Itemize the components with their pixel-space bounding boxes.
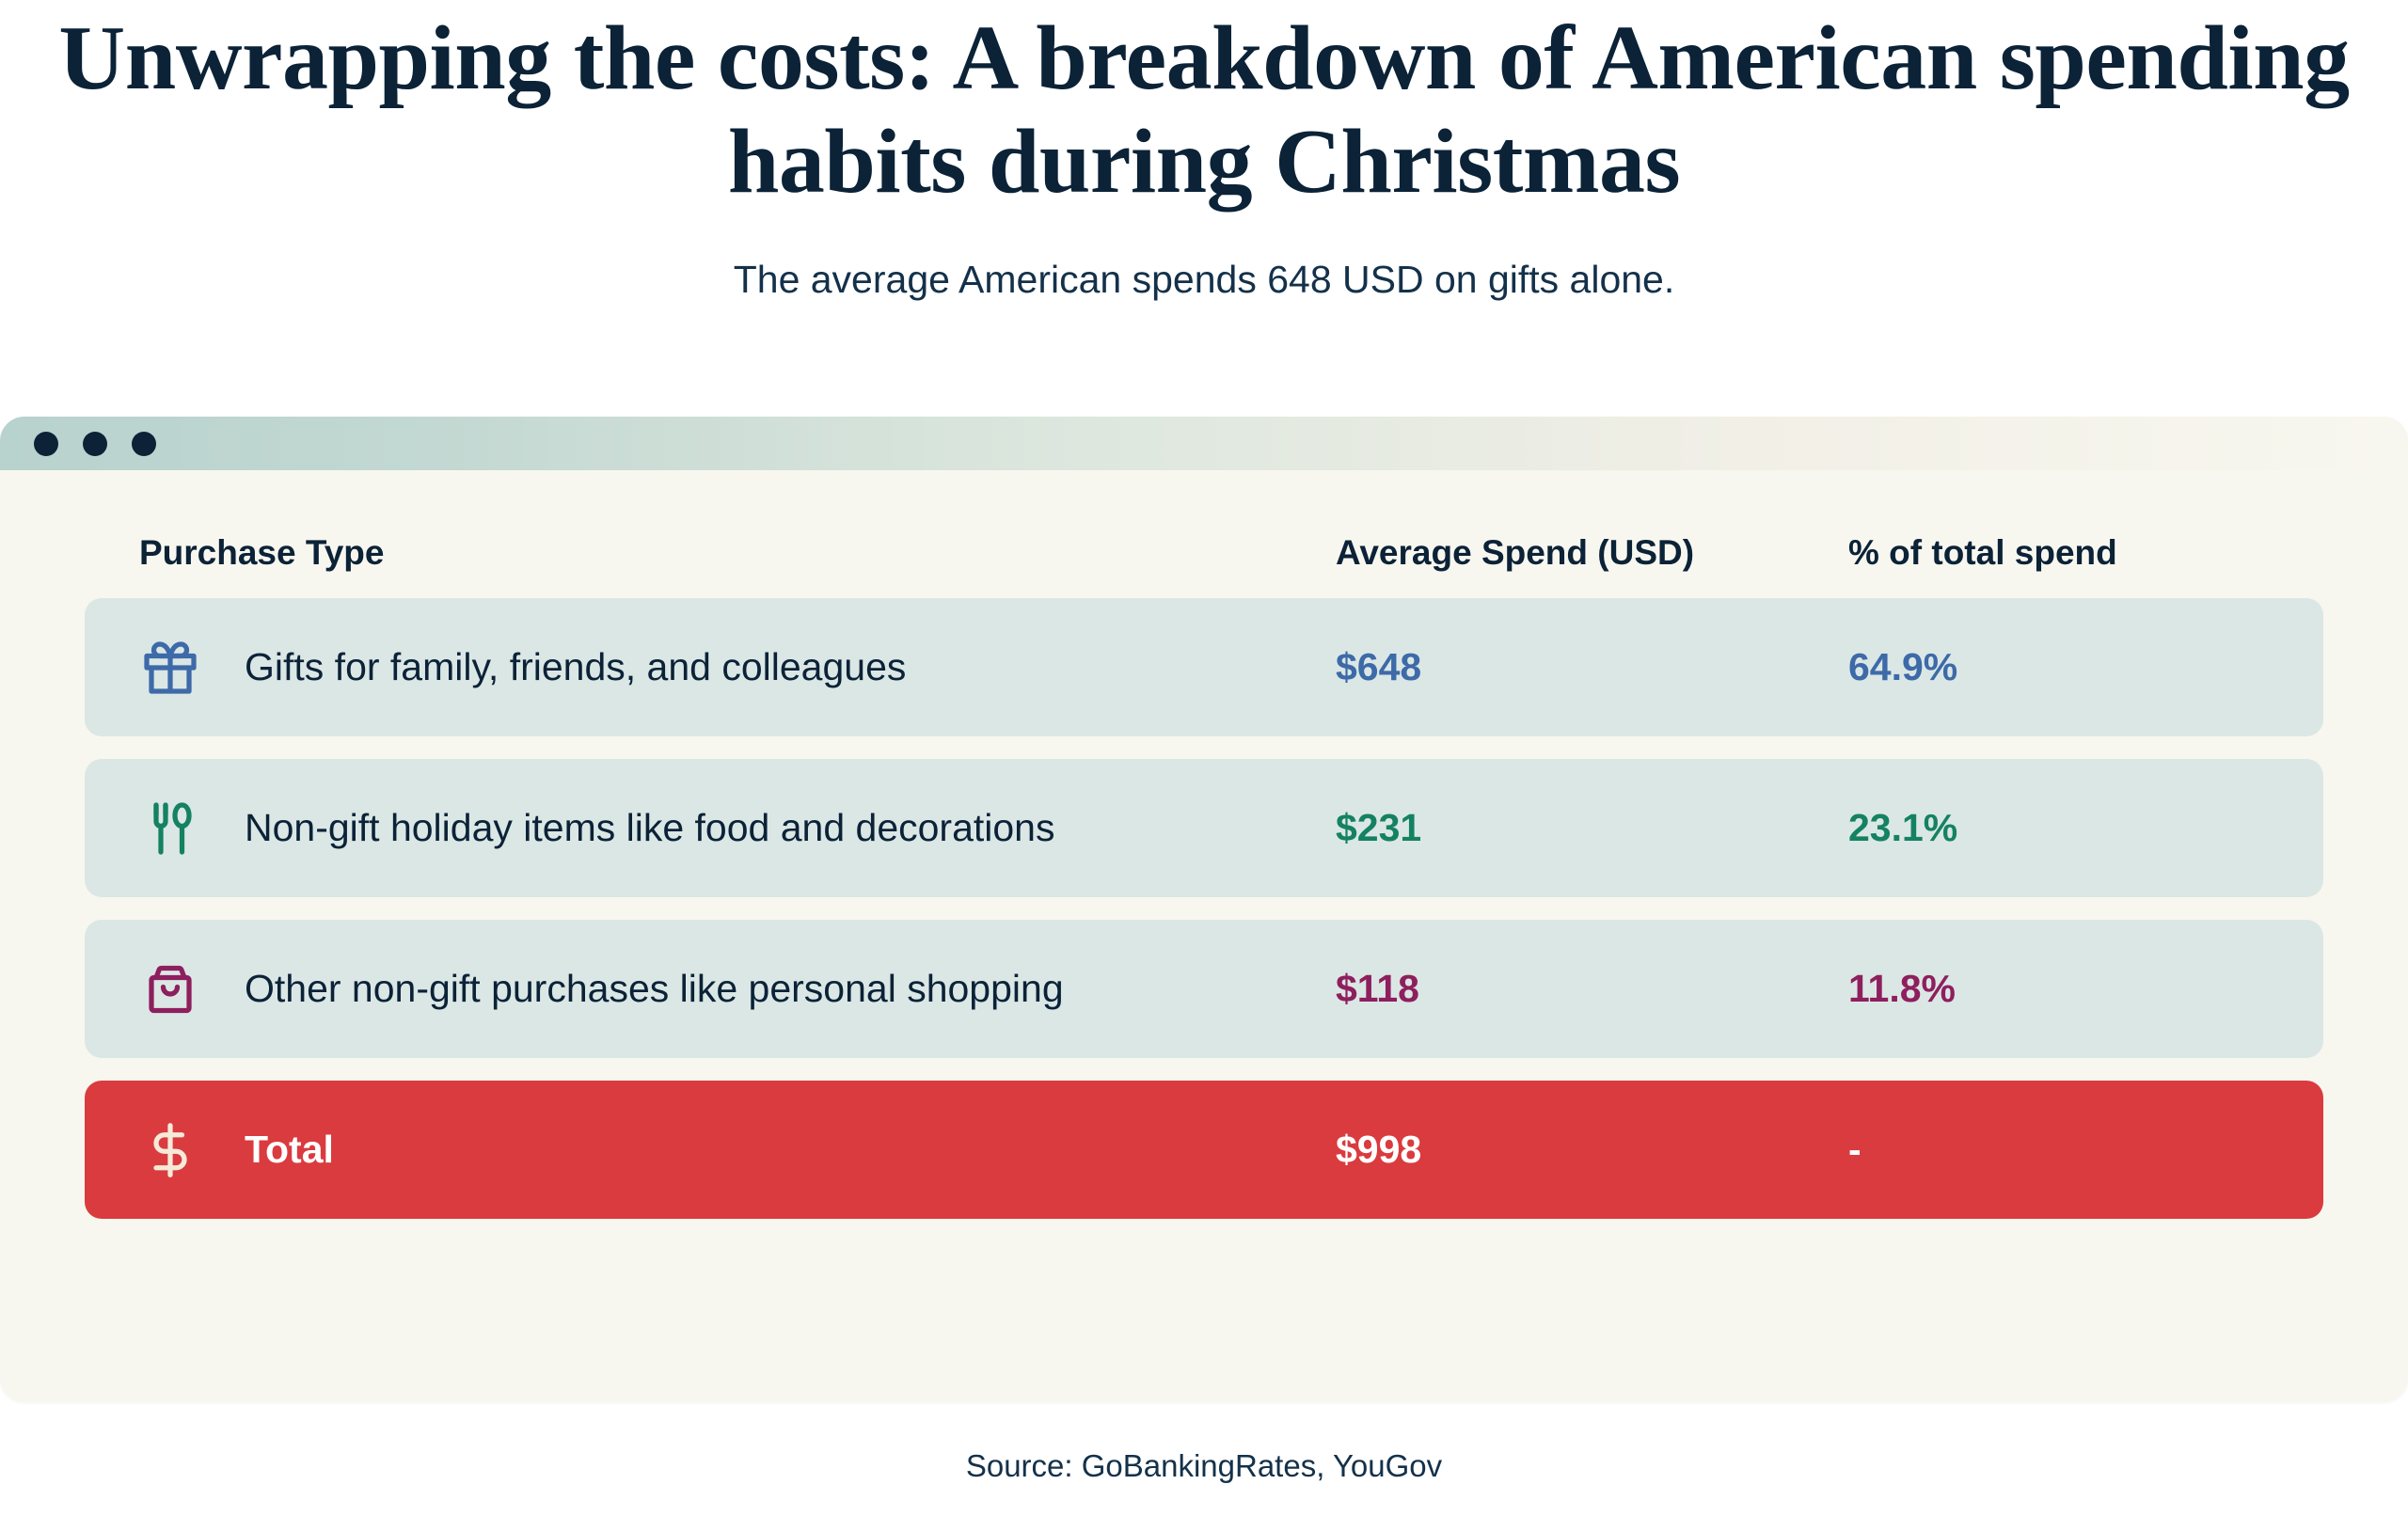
gift-icon — [139, 637, 201, 699]
cell-percent-of-total: 64.9% — [1848, 645, 1957, 689]
window-dot-3 — [132, 432, 156, 456]
column-header-average-spend: Average Spend (USD) — [1336, 533, 1848, 573]
cell-percent-of-total: - — [1848, 1128, 1861, 1172]
column-header-purchase-type: Purchase Type — [139, 533, 1336, 573]
dollar-sign-icon — [139, 1119, 201, 1181]
spending-table: Purchase Type Average Spend (USD) % of t… — [85, 508, 2323, 1219]
page-title: Unwrapping the costs: A breakdown of Ame… — [0, 8, 2408, 214]
card-window-bar — [0, 417, 2408, 470]
table-card: Purchase Type Average Spend (USD) % of t… — [0, 417, 2408, 1402]
cell-average-spend: $118 — [1336, 967, 1848, 1011]
card-body: Purchase Type Average Spend (USD) % of t… — [0, 508, 2408, 1219]
window-dot-1 — [34, 432, 58, 456]
table-row[interactable]: Other non-gift purchases like personal s… — [85, 920, 2323, 1058]
table-header-row: Purchase Type Average Spend (USD) % of t… — [85, 508, 2323, 598]
cell-average-spend: $998 — [1336, 1128, 1848, 1172]
shopping-bag-icon — [139, 958, 201, 1020]
table-total-row[interactable]: Total $998 - — [85, 1081, 2323, 1219]
cell-percent-of-total: 11.8% — [1848, 967, 1956, 1011]
column-header-percent-of-total: % of total spend — [1848, 533, 2117, 573]
cell-purchase-type: Other non-gift purchases like personal s… — [139, 958, 1336, 1020]
utensils-icon — [139, 797, 201, 860]
cell-purchase-type: Non-gift holiday items like food and dec… — [139, 797, 1336, 860]
cell-average-spend: $648 — [1336, 645, 1848, 689]
row-label: Non-gift holiday items like food and dec… — [245, 806, 1054, 850]
table-row[interactable]: Non-gift holiday items like food and dec… — [85, 759, 2323, 897]
cell-percent-of-total: 23.1% — [1848, 806, 1957, 850]
row-label: Total — [245, 1128, 334, 1172]
infographic-page: Unwrapping the costs: A breakdown of Ame… — [0, 0, 2408, 1516]
header: Unwrapping the costs: A breakdown of Ame… — [0, 0, 2408, 302]
source-note: Source: GoBankingRates, YouGov — [0, 1448, 2408, 1484]
window-dot-2 — [83, 432, 107, 456]
cell-purchase-type: Total — [139, 1119, 1336, 1181]
table-row[interactable]: Gifts for family, friends, and colleague… — [85, 598, 2323, 736]
row-label: Other non-gift purchases like personal s… — [245, 967, 1064, 1011]
cell-purchase-type: Gifts for family, friends, and colleague… — [139, 637, 1336, 699]
row-label: Gifts for family, friends, and colleague… — [245, 645, 906, 689]
page-subtitle: The average American spends 648 USD on g… — [0, 258, 2408, 302]
cell-average-spend: $231 — [1336, 806, 1848, 850]
